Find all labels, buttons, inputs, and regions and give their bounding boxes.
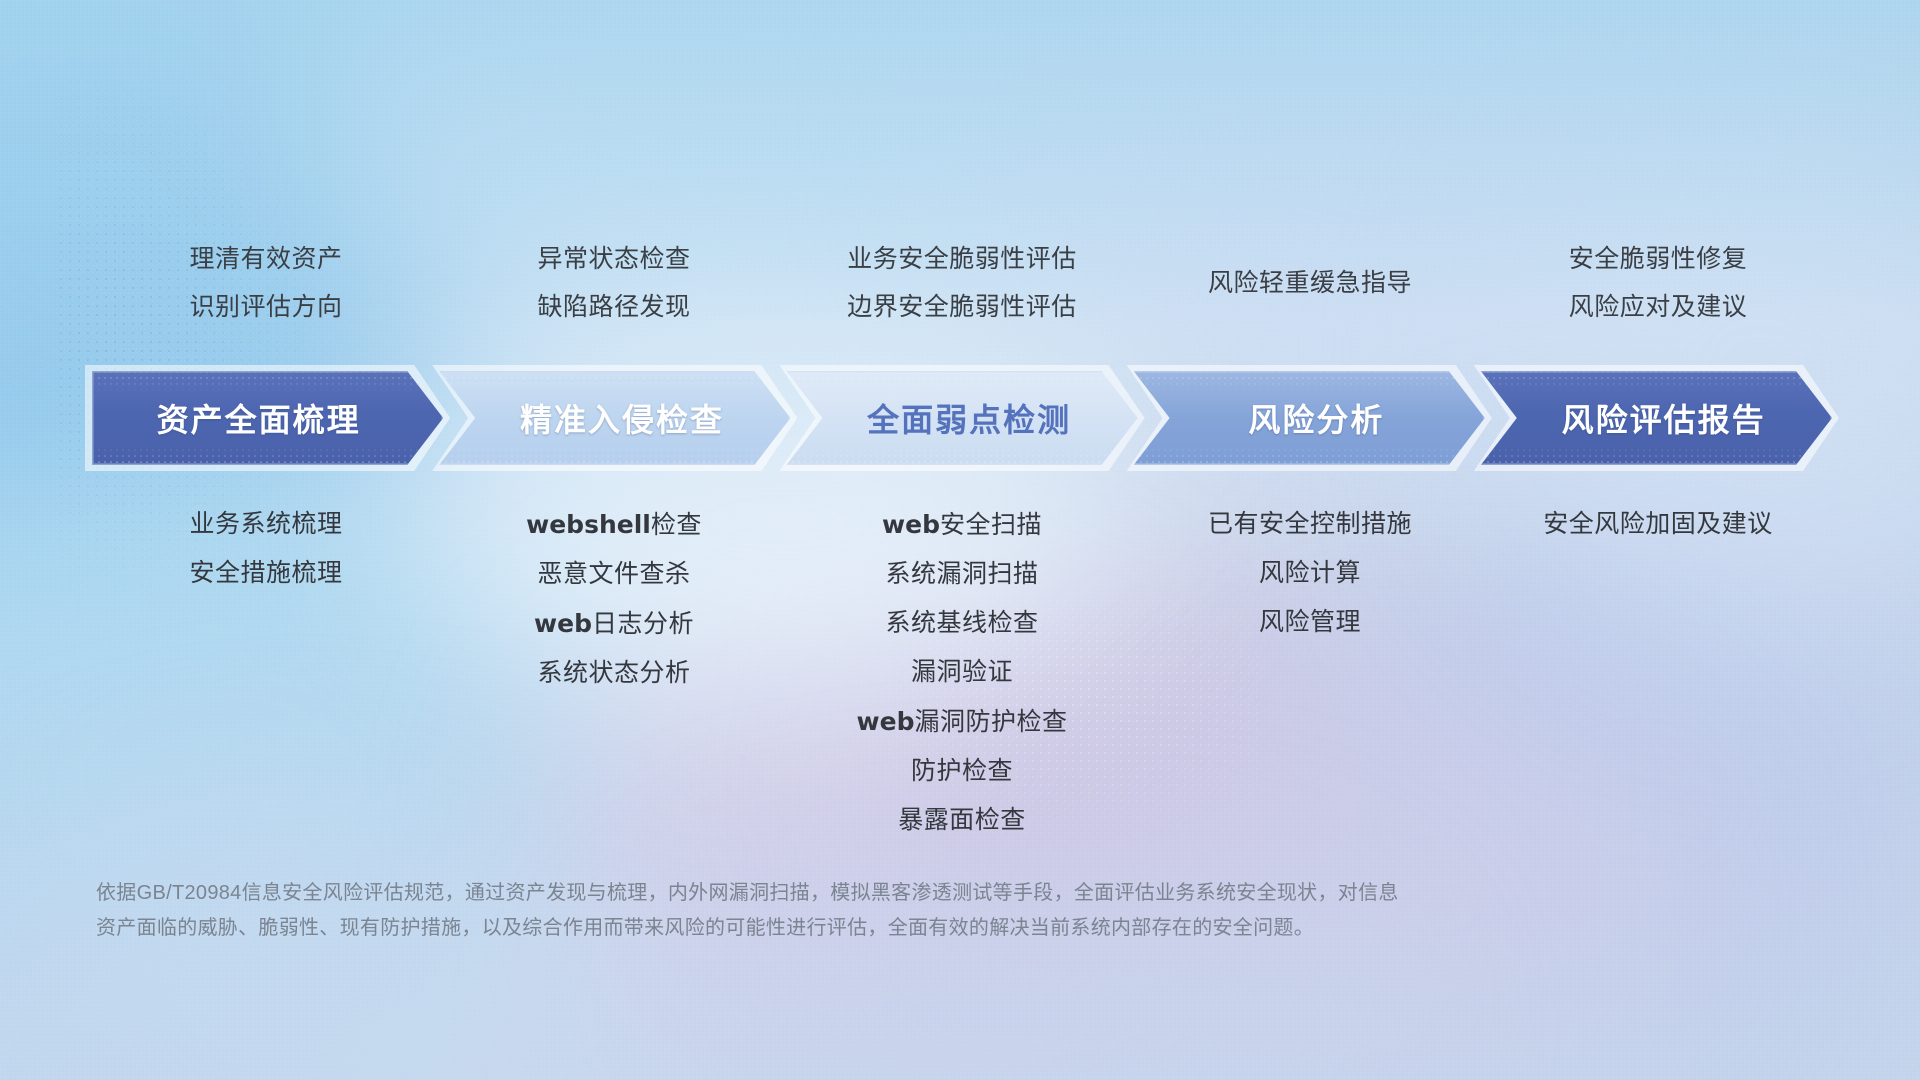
bottom-notes-stage-3: web安全扫描系统漏洞扫描系统基线检查漏洞验证web漏洞防护检查防护检查暴露面检… (788, 500, 1136, 845)
bottom-note-line: 恶意文件查杀 (537, 550, 690, 599)
bottom-note-en: web (534, 609, 592, 638)
top-note-line: 理清有效资产 (189, 235, 342, 283)
bottom-note-en: web (857, 707, 915, 736)
process-arrow-stage-1[interactable]: 资产全面梳理 (92, 371, 443, 465)
arrow-label-stage-5: 风险评估报告 (1481, 395, 1832, 441)
process-arrow-stage-3[interactable]: 全面弱点检测 (786, 371, 1137, 465)
arrow-label-stage-4: 风险分析 (1134, 395, 1485, 441)
top-notes-stage-1: 理清有效资产识别评估方向 (92, 222, 440, 344)
bottom-notes-stage-1: 业务系统梳理安全措施梳理 (92, 500, 440, 598)
bottom-note-line: 系统基线检查 (885, 599, 1038, 648)
bottom-note-zh: 检查 (651, 511, 702, 539)
top-notes-stage-2: 异常状态检查缺陷路径发现 (440, 222, 788, 344)
bottom-note-line: 风险管理 (1259, 598, 1361, 647)
top-note-line: 业务安全脆弱性评估 (847, 235, 1077, 283)
bottom-note-line: web安全扫描 (882, 500, 1042, 550)
footer-description: 依据GB/T20984信息安全风险评估规范，通过资产发现与梳理，内外网漏洞扫描，… (96, 876, 1656, 946)
top-notes-stage-5: 安全脆弱性修复风险应对及建议 (1484, 222, 1832, 344)
bottom-note-line: 暴露面检查 (898, 796, 1026, 845)
top-note-line: 异常状态检查 (537, 235, 690, 283)
bottom-annotations-row: 业务系统梳理安全措施梳理webshell检查恶意文件查杀web日志分析系统状态分… (92, 500, 1832, 845)
top-annotations-row: 理清有效资产识别评估方向异常状态检查缺陷路径发现业务安全脆弱性评估边界安全脆弱性… (92, 222, 1832, 344)
bottom-note-zh: 业务系统梳理 (189, 510, 342, 538)
bottom-note-line: 已有安全控制措施 (1208, 500, 1412, 549)
bottom-note-line: 风险计算 (1259, 549, 1361, 598)
process-arrow-stage-4[interactable]: 风险分析 (1134, 371, 1485, 465)
bottom-note-line: web日志分析 (534, 599, 694, 649)
bottom-note-zh: 防护检查 (911, 757, 1013, 785)
bottom-note-zh: 系统漏洞扫描 (885, 560, 1038, 588)
bottom-note-zh: 安全扫描 (940, 511, 1042, 539)
bottom-note-zh: 漏洞验证 (911, 658, 1013, 686)
bottom-note-zh: 安全风险加固及建议 (1543, 510, 1773, 538)
bottom-notes-stage-4: 已有安全控制措施风险计算风险管理 (1136, 500, 1484, 647)
bottom-note-zh: 安全措施梳理 (189, 559, 342, 587)
top-notes-stage-4: 风险轻重缓急指导 (1136, 222, 1484, 344)
arrow-label-stage-2: 精准入侵检查 (439, 395, 790, 441)
footer-line-2: 资产面临的威胁、脆弱性、现有防护措施，以及综合作用而带来风险的可能性进行评估，全… (96, 911, 1656, 946)
footer-line-1: 依据GB/T20984信息安全风险评估规范，通过资产发现与梳理，内外网漏洞扫描，… (96, 876, 1656, 911)
bottom-note-line: web漏洞防护检查 (857, 697, 1068, 747)
bottom-note-line: 安全风险加固及建议 (1543, 500, 1773, 549)
top-note-line: 安全脆弱性修复 (1569, 235, 1748, 283)
bottom-note-en: webshell (526, 510, 651, 539)
arrow-label-stage-3: 全面弱点检测 (786, 395, 1137, 441)
bottom-note-zh: 日志分析 (592, 610, 694, 638)
top-note-line: 边界安全脆弱性评估 (847, 283, 1077, 331)
bottom-note-line: 漏洞验证 (911, 648, 1013, 697)
bottom-note-zh: 风险管理 (1259, 608, 1361, 636)
bottom-note-line: 业务系统梳理 (189, 500, 342, 549)
bottom-notes-stage-2: webshell检查恶意文件查杀web日志分析系统状态分析 (440, 500, 788, 698)
bottom-note-zh: 恶意文件查杀 (537, 560, 690, 588)
bottom-note-line: 安全措施梳理 (189, 549, 342, 598)
bottom-note-zh: 已有安全控制措施 (1208, 510, 1412, 538)
bottom-note-line: 防护检查 (911, 747, 1013, 796)
top-note-line: 识别评估方向 (189, 283, 342, 331)
process-arrow-stage-2[interactable]: 精准入侵检查 (439, 371, 790, 465)
process-arrow-banner: 资产全面梳理精准入侵检查全面弱点检测风险分析风险评估报告 (92, 371, 1832, 465)
bottom-note-line: webshell检查 (526, 500, 702, 550)
bottom-note-line: 系统漏洞扫描 (885, 550, 1038, 599)
bottom-note-zh: 系统基线检查 (885, 609, 1038, 637)
bottom-note-en: web (882, 510, 940, 539)
top-note-line: 风险应对及建议 (1569, 283, 1748, 331)
top-notes-stage-3: 业务安全脆弱性评估边界安全脆弱性评估 (788, 222, 1136, 344)
bottom-note-zh: 漏洞防护检查 (914, 708, 1067, 736)
bottom-notes-stage-5: 安全风险加固及建议 (1484, 500, 1832, 549)
bottom-note-zh: 暴露面检查 (898, 806, 1026, 834)
arrow-label-stage-1: 资产全面梳理 (92, 395, 443, 441)
top-note-line: 风险轻重缓急指导 (1208, 259, 1412, 307)
bottom-note-zh: 风险计算 (1259, 559, 1361, 587)
process-arrow-stage-5[interactable]: 风险评估报告 (1481, 371, 1832, 465)
bottom-note-line: 系统状态分析 (537, 649, 690, 698)
top-note-line: 缺陷路径发现 (537, 283, 690, 331)
bottom-note-zh: 系统状态分析 (537, 659, 690, 687)
